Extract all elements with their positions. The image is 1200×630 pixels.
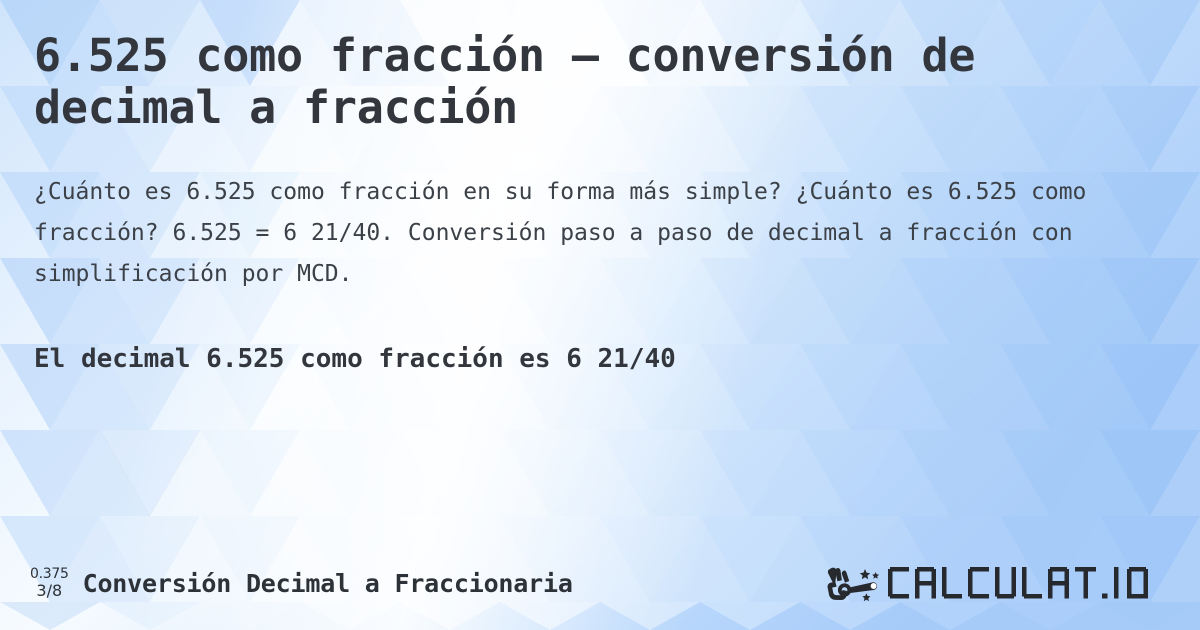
footer-brand-group: 0.375 3/8 Conversión Decimal a Fracciona… bbox=[30, 567, 573, 599]
share-card: 6.525 como fracción – conversión de deci… bbox=[0, 0, 1200, 630]
calculatio-logo[interactable] bbox=[824, 562, 1178, 604]
card-footer: 0.375 3/8 Conversión Decimal a Fracciona… bbox=[0, 560, 1200, 606]
answer-statement: El decimal 6.525 como fracción es 6 21/4… bbox=[34, 341, 1166, 377]
page-title: 6.525 como fracción – conversión de deci… bbox=[34, 30, 1154, 134]
intro-paragraph: ¿Cuánto es 6.525 como fracción en su for… bbox=[34, 172, 1166, 295]
icon-fraction-value: 3/8 bbox=[36, 582, 62, 599]
card-content: 6.525 como fracción – conversión de deci… bbox=[0, 0, 1200, 630]
calculatio-wordmark bbox=[888, 562, 1178, 604]
site-title: Conversión Decimal a Fraccionaria bbox=[83, 569, 573, 598]
decimal-fraction-icon: 0.375 3/8 bbox=[30, 567, 69, 599]
icon-decimal-value: 0.375 bbox=[30, 567, 69, 582]
hand-holding-magic-wand-icon bbox=[824, 563, 886, 603]
